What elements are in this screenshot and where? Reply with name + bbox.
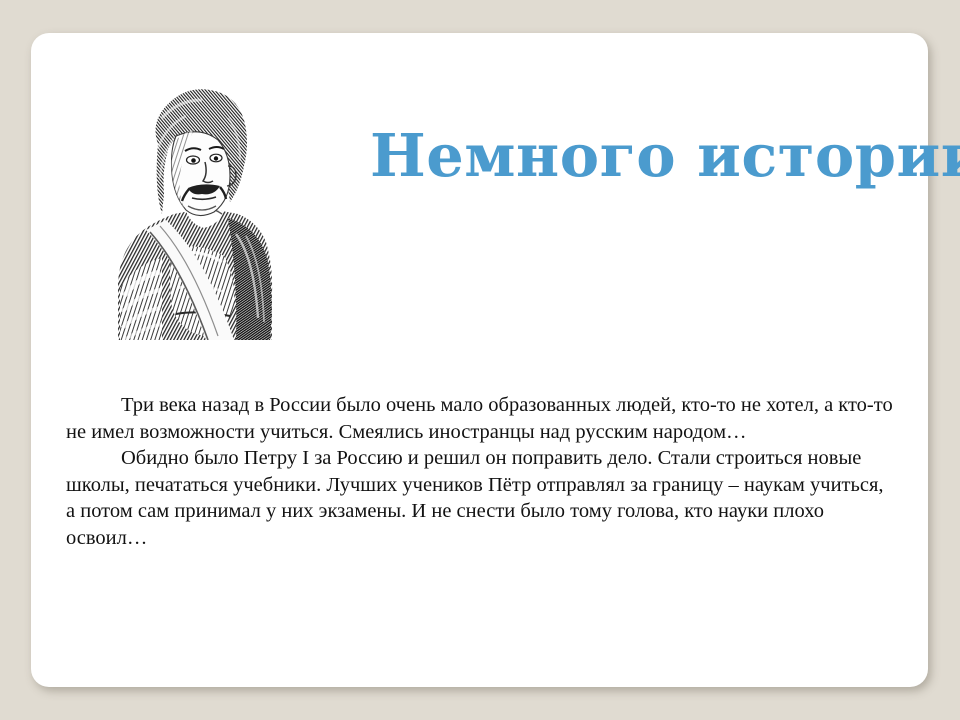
line: Три века назад в России было очень мало …: [121, 394, 736, 416]
line: сам принимал у них экзамены. И не снести…: [138, 500, 768, 522]
slide-body-text: Три века назад в России было очень мало …: [66, 392, 894, 551]
line: Обидно было Петру I за Россию и решил он: [121, 447, 507, 469]
paragraph-1: Три века назад в России было очень мало …: [66, 392, 894, 445]
presentation-slide: Немного истории Три века назад в России …: [0, 0, 960, 720]
portrait-engraving-icon: [88, 78, 274, 340]
line: русским народом…: [575, 421, 746, 443]
paragraph-2: Обидно было Петру I за Россию и решил он…: [66, 445, 894, 551]
